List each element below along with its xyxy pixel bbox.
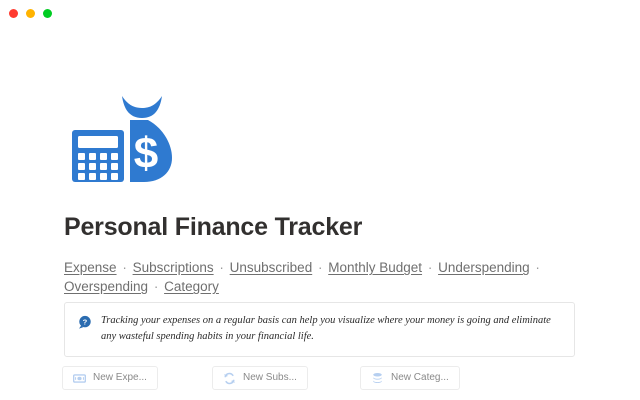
breadcrumb-link-expense[interactable]: Expense: [64, 260, 117, 275]
breadcrumb-separator: ·: [152, 279, 161, 294]
sync-arrows-icon: [223, 372, 236, 385]
new-subscription-button-label: New Subs...: [243, 372, 297, 384]
banknote-icon: [73, 372, 86, 385]
svg-text:?: ?: [83, 318, 88, 327]
maximize-window-button[interactable]: [43, 9, 52, 18]
breadcrumb-separator: ·: [316, 260, 325, 275]
close-window-button[interactable]: [9, 9, 18, 18]
button-gap: [166, 366, 204, 390]
button-gap: [316, 366, 352, 390]
new-expense-button[interactable]: New Expe...: [62, 366, 158, 390]
info-callout-text: Tracking your expenses on a regular basi…: [101, 313, 562, 345]
main-content: $ Personal Finance Tracker Expense · Sub…: [0, 26, 640, 400]
help-question-bubble-icon: ?: [77, 315, 92, 330]
breadcrumb-link-underspending[interactable]: Underspending: [438, 260, 530, 275]
layers-stack-icon: [371, 372, 384, 385]
action-button-row: New Expe... New Subs...: [62, 366, 460, 390]
new-category-button-label: New Categ...: [391, 372, 449, 384]
new-category-button[interactable]: New Categ...: [360, 366, 460, 390]
breadcrumb-separator: ·: [533, 260, 542, 275]
breadcrumb-link-overspending[interactable]: Overspending: [64, 279, 148, 294]
breadcrumb-link-monthly-budget[interactable]: Monthly Budget: [328, 260, 422, 275]
svg-text:$: $: [134, 129, 158, 178]
breadcrumb-link-unsubscribed[interactable]: Unsubscribed: [230, 260, 313, 275]
new-subscription-button[interactable]: New Subs...: [212, 366, 308, 390]
minimize-window-button[interactable]: [26, 9, 35, 18]
breadcrumb-separator: ·: [217, 260, 226, 275]
breadcrumb-link-subscriptions[interactable]: Subscriptions: [133, 260, 214, 275]
breadcrumb: Expense · Subscriptions · Unsubscribed ·…: [64, 258, 564, 296]
page-title: Personal Finance Tracker: [64, 212, 362, 242]
breadcrumb-separator: ·: [426, 260, 435, 275]
info-callout: ? Tracking your expenses on a regular ba…: [64, 302, 575, 357]
breadcrumb-separator: ·: [120, 260, 129, 275]
breadcrumb-link-category[interactable]: Category: [164, 279, 219, 294]
new-expense-button-label: New Expe...: [93, 372, 147, 384]
window-controls: [9, 9, 52, 18]
window-titlebar: [0, 0, 640, 26]
money-bag-calculator-icon: $: [64, 88, 172, 186]
